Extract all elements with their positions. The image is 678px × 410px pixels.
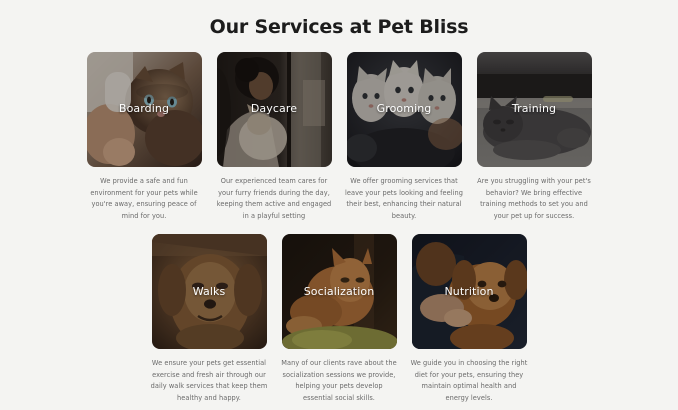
- card-description-boarding: We provide a safe and fun environment fo…: [85, 176, 203, 222]
- card-description-grooming: We offer grooming services that leave yo…: [345, 176, 463, 222]
- service-card-grooming[interactable]: Grooming We offer grooming services that…: [347, 52, 462, 222]
- card-description-daycare: Our experienced team cares for your furr…: [215, 176, 333, 222]
- services-row-two: Walks We ensure your pets get essential …: [0, 234, 678, 404]
- service-card-walks[interactable]: Walks We ensure your pets get essential …: [152, 234, 267, 404]
- card-label-socialization: Socialization: [301, 286, 378, 298]
- card-label-daycare: Daycare: [248, 103, 300, 115]
- card-image-socialization[interactable]: Socialization: [282, 234, 397, 349]
- card-description-walks: We ensure your pets get essential exerci…: [150, 358, 268, 404]
- card-image-daycare[interactable]: Daycare: [217, 52, 332, 167]
- service-card-training[interactable]: Training Are you struggling with your pe…: [477, 52, 592, 222]
- card-description-nutrition: We guide you in choosing the right diet …: [410, 358, 528, 404]
- service-card-socialization[interactable]: Socialization Many of our clients rave a…: [282, 234, 397, 404]
- service-card-nutrition[interactable]: Nutrition We guide you in choosing the r…: [412, 234, 527, 404]
- card-label-walks: Walks: [190, 286, 229, 298]
- card-label-training: Training: [509, 103, 559, 115]
- card-label-boarding: Boarding: [116, 103, 172, 115]
- service-card-boarding[interactable]: Boarding We provide a safe and fun envir…: [87, 52, 202, 222]
- card-image-grooming[interactable]: Grooming: [347, 52, 462, 167]
- card-label-grooming: Grooming: [374, 103, 435, 115]
- card-image-boarding[interactable]: Boarding: [87, 52, 202, 167]
- card-description-training: Are you struggling with your pet's behav…: [475, 176, 593, 222]
- services-page: Our Services at Pet Bliss: [0, 0, 678, 410]
- card-image-nutrition[interactable]: Nutrition: [412, 234, 527, 349]
- service-card-daycare[interactable]: Daycare Our experienced team cares for y…: [217, 52, 332, 222]
- card-description-socialization: Many of our clients rave about the socia…: [280, 358, 398, 404]
- card-image-walks[interactable]: Walks: [152, 234, 267, 349]
- card-image-training[interactable]: Training: [477, 52, 592, 167]
- services-row-one: Boarding We provide a safe and fun envir…: [0, 52, 678, 222]
- card-label-nutrition: Nutrition: [441, 286, 496, 298]
- page-title: Our Services at Pet Bliss: [0, 0, 678, 52]
